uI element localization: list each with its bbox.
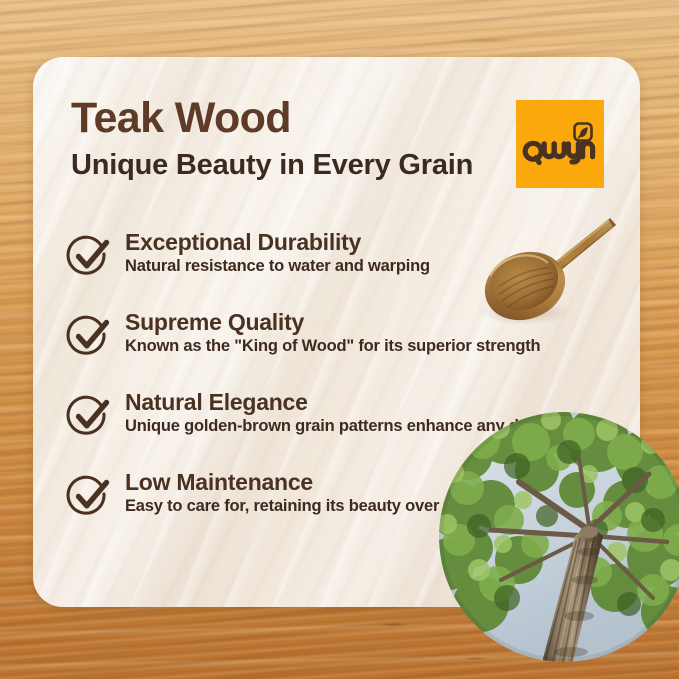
check-circle-icon <box>65 392 113 440</box>
page-title: Teak Wood <box>71 97 473 141</box>
card-header: Teak Wood Unique Beauty in Every Grain <box>71 97 473 180</box>
feature-title: Supreme Quality <box>125 309 635 335</box>
leaf-in-rounded-square-icon <box>575 124 592 141</box>
list-item: Exceptional Durability Natural resistanc… <box>65 229 635 287</box>
tree-canopy-photo <box>439 412 679 662</box>
feature-title: Exceptional Durability <box>125 229 635 255</box>
brand-logo <box>516 100 604 188</box>
feature-description: Natural resistance to water and warping <box>125 257 635 277</box>
feature-description: Known as the "King of Wood" for its supe… <box>125 337 635 357</box>
poster-stage: Teak Wood Unique Beauty in Every Grain <box>0 0 679 679</box>
page-subtitle: Unique Beauty in Every Grain <box>71 150 473 180</box>
check-circle-icon <box>65 232 113 280</box>
check-circle-icon <box>65 312 113 360</box>
list-item: Supreme Quality Known as the "King of Wo… <box>65 309 635 367</box>
check-circle-icon <box>65 472 113 520</box>
